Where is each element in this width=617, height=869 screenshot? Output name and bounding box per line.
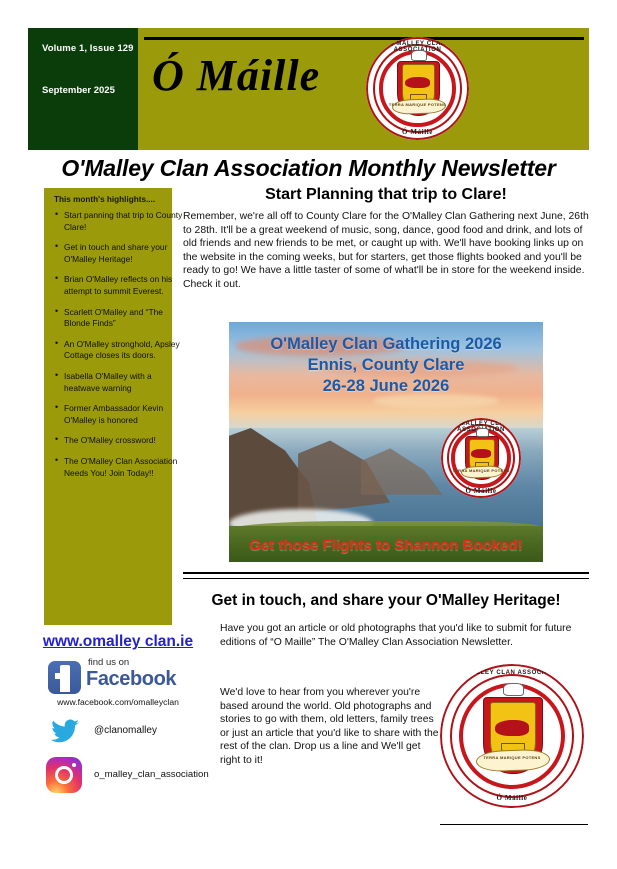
instagram-icon[interactable] [46, 757, 82, 793]
list-item: Brian O'Malley reflects on his attempt t… [64, 274, 188, 297]
bottom-rule [440, 824, 588, 825]
article-2-heading: Get in touch, and share your O'Malley He… [183, 592, 589, 610]
masthead-title: Ó Máille [152, 50, 320, 102]
crest-motto-text: TERRA MARIQUE POTENS [440, 755, 584, 760]
crest-motto-text: TERRA MARIQUE POTENS [366, 102, 469, 107]
poster-clan-crest: O'MALLEY CLAN ASSOCIATION TERRA MARIQUE … [441, 418, 521, 498]
crest-motto-text: TERRA MARIQUE POTENS [441, 468, 521, 473]
twitter-handle[interactable]: @clanomalley [94, 725, 157, 736]
poster-line-3: 26-28 June 2026 [229, 376, 543, 397]
volume-issue: Volume 1, Issue 129 [42, 43, 138, 55]
instagram-row[interactable]: o_malley_clan_association [28, 755, 208, 801]
section-divider-top [183, 572, 589, 574]
crest-boar-icon [405, 77, 430, 88]
twitter-row[interactable]: @clanomalley [28, 713, 208, 755]
instagram-handle[interactable]: o_malley_clan_association [94, 769, 209, 780]
list-item: Scarlett O'Malley and “The Blonde Finds” [64, 307, 188, 330]
facebook-row[interactable]: find us on Facebook [28, 655, 208, 701]
social-block: www.omalley clan.ie find us on Facebook … [28, 632, 208, 801]
article-2-paragraph-1: Have you got an article or old photograp… [220, 622, 578, 649]
list-item: The O'Malley crossword! [64, 435, 188, 447]
article-1-body: Remember, we're all off to County Clare … [183, 210, 589, 292]
list-item: The O'Malley Clan Association Needs You!… [64, 456, 188, 479]
poster-footer-text: Get those Flights to Shannon Booked! [229, 536, 543, 556]
highlights-heading: This month's highlights.... [54, 195, 166, 204]
newsletter-page: Volume 1, Issue 129 September 2025 Ó Mái… [0, 0, 617, 869]
masthead-rule [144, 37, 584, 40]
facebook-findus-label: find us on [88, 657, 129, 668]
list-item: Start panning that trip to County Clare! [64, 210, 188, 233]
article-2-paragraph-2: We'd love to hear from you wherever you'… [220, 686, 440, 768]
crest-bottom-text: Ó Máille [440, 794, 584, 802]
list-item: An O'Malley stronghold, Apsley Cottage c… [64, 339, 188, 362]
masthead: Volume 1, Issue 129 September 2025 Ó Mái… [28, 28, 589, 150]
highlights-sidebar: This month's highlights.... Start pannin… [44, 188, 172, 625]
article-1-heading: Start Planning that trip to Clare! [183, 185, 589, 205]
section-divider-bottom [183, 578, 589, 579]
gathering-poster-image: O'Malley Clan Gathering 2026 Ennis, Coun… [229, 322, 543, 562]
website-link[interactable]: www.omalley clan.ie [28, 632, 208, 651]
clan-crest-logo: O'MALLEY CLAN ASSOCIATION TERRA MARIQUE … [366, 37, 469, 140]
highlights-list: Start panning that trip to County Clare!… [48, 210, 192, 488]
crest-bottom-text: Ó Máille [366, 128, 469, 136]
poster-line-2: Ennis, County Clare [229, 355, 543, 376]
list-item: Isabella O'Malley with a heatwave warnin… [64, 371, 188, 394]
facebook-icon[interactable] [48, 661, 81, 694]
crest-horse-icon [411, 50, 426, 60]
facebook-wordmark: Facebook [86, 668, 176, 691]
list-item: Get in touch and share your O'Malley Her… [64, 242, 188, 265]
twitter-icon[interactable] [50, 719, 80, 745]
list-item: Former Ambassador Kevin O'Malley is hono… [64, 403, 188, 426]
page-title: O'Malley Clan Association Monthly Newsle… [28, 155, 589, 182]
poster-title: O'Malley Clan Gathering 2026 Ennis, Coun… [229, 334, 543, 397]
crest-top-text: O'MALLEY CLAN ASSOCIATION [440, 670, 584, 676]
issue-date: September 2025 [42, 85, 138, 97]
poster-line-1: O'Malley Clan Gathering 2026 [229, 334, 543, 355]
article-1: Start Planning that trip to Clare! Remem… [183, 185, 589, 292]
article-2-clan-crest: O'MALLEY CLAN ASSOCIATION TERRA MARIQUE … [440, 664, 584, 808]
crest-bottom-text: Ó Máille [441, 487, 521, 495]
